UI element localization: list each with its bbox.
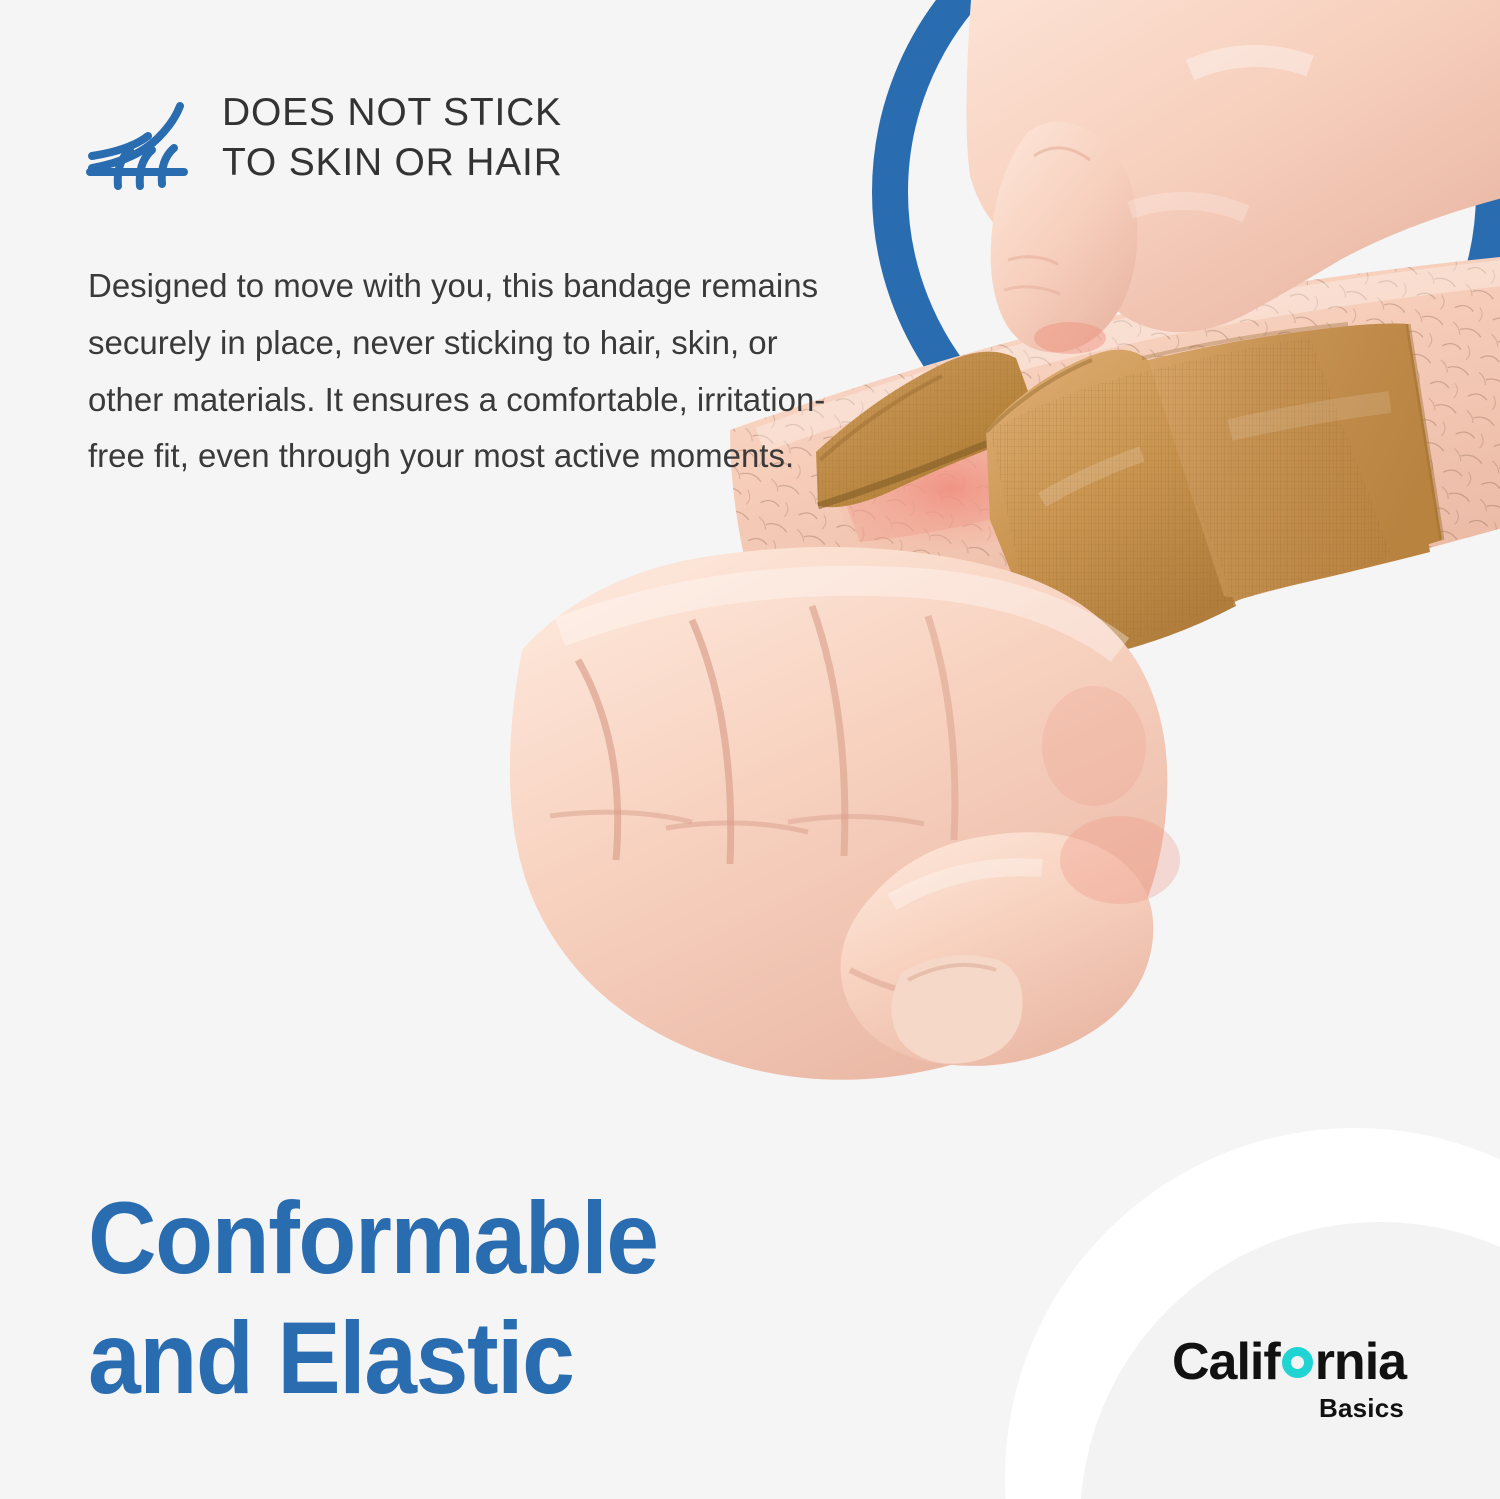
teal-ring-o-icon — [1282, 1347, 1313, 1378]
hair-strands-no-stick-icon — [84, 94, 196, 190]
brand-logo-word-part-2: rnia — [1315, 1336, 1406, 1388]
brand-logo-wordmark: Calif rnia — [1172, 1336, 1406, 1388]
feature-description: Designed to move with you, this bandage … — [88, 258, 848, 485]
brand-logo-subtitle: Basics — [1172, 1395, 1404, 1421]
brand-logo-word-part-1: Calif — [1172, 1336, 1280, 1388]
brand-logo: Calif rnia Basics — [1172, 1336, 1406, 1421]
feature-heading: DOES NOT STICK TO SKIN OR HAIR — [84, 88, 563, 190]
feature-title: DOES NOT STICK TO SKIN OR HAIR — [222, 88, 563, 188]
blue-circle-outline — [872, 0, 1500, 512]
page-headline: Conformable and Elastic — [88, 1178, 906, 1419]
product-feature-card: DOES NOT STICK TO SKIN OR HAIR Designed … — [0, 0, 1500, 1499]
